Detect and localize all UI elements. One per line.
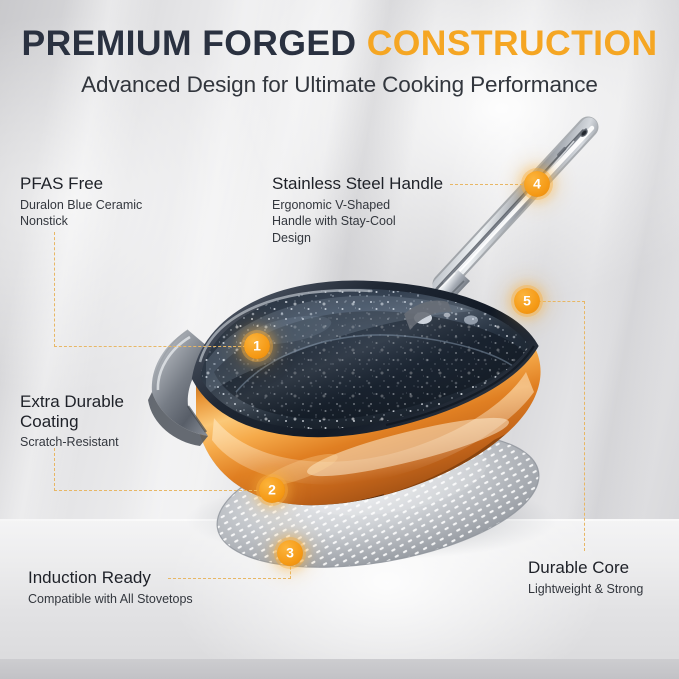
feature-badge-1-number: 1 xyxy=(253,338,261,354)
feature-5-subtitle: Lightweight & Strong xyxy=(528,581,678,598)
feature-1-title: PFAS Free xyxy=(20,174,210,194)
feature-badge-4-number: 4 xyxy=(533,176,541,192)
feature-label-induction-ready[interactable]: Induction Ready Compatible with All Stov… xyxy=(28,568,258,607)
feature-3-subtitle: Compatible with All Stovetops xyxy=(28,591,258,608)
feature-2-title: Extra DurableCoating xyxy=(20,392,200,431)
feature-label-durable-core[interactable]: Durable Core Lightweight & Strong xyxy=(528,558,678,597)
feature-badge-3[interactable]: 3 xyxy=(277,540,303,566)
feature-label-extra-durable-coating[interactable]: Extra DurableCoating Scratch-Resistant xyxy=(20,392,200,451)
feature-badge-3-number: 3 xyxy=(286,545,294,561)
connector-5-horizontal xyxy=(538,301,585,302)
feature-badge-5-number: 5 xyxy=(523,293,531,309)
feature-badge-4[interactable]: 4 xyxy=(524,171,550,197)
connector-1-horizontal xyxy=(54,346,246,347)
feature-badge-2[interactable]: 2 xyxy=(259,477,285,503)
feature-4-subtitle: Ergonomic V-ShapedHandle with Stay-CoolD… xyxy=(272,197,452,247)
connector-5-vertical xyxy=(584,301,585,551)
feature-badge-1[interactable]: 1 xyxy=(244,333,270,359)
feature-label-stainless-steel-handle[interactable]: Stainless Steel Handle Ergonomic V-Shape… xyxy=(272,174,452,246)
connector-2-horizontal xyxy=(54,490,262,491)
feature-1-subtitle: Duralon Blue CeramicNonstick xyxy=(20,197,210,230)
feature-3-title: Induction Ready xyxy=(28,568,258,588)
feature-5-title: Durable Core xyxy=(528,558,678,578)
feature-2-subtitle: Scratch-Resistant xyxy=(20,434,200,451)
infographic-canvas: PREMIUM FORGED CONSTRUCTION Advanced Des… xyxy=(0,0,679,679)
feature-4-title: Stainless Steel Handle xyxy=(272,174,452,194)
feature-badge-2-number: 2 xyxy=(268,482,276,498)
feature-label-pfas-free[interactable]: PFAS Free Duralon Blue CeramicNonstick xyxy=(20,174,210,230)
connector-1-vertical xyxy=(54,232,55,347)
feature-badge-5[interactable]: 5 xyxy=(514,288,540,314)
connector-4-horizontal xyxy=(450,184,528,185)
connector-2-vertical xyxy=(54,448,55,491)
